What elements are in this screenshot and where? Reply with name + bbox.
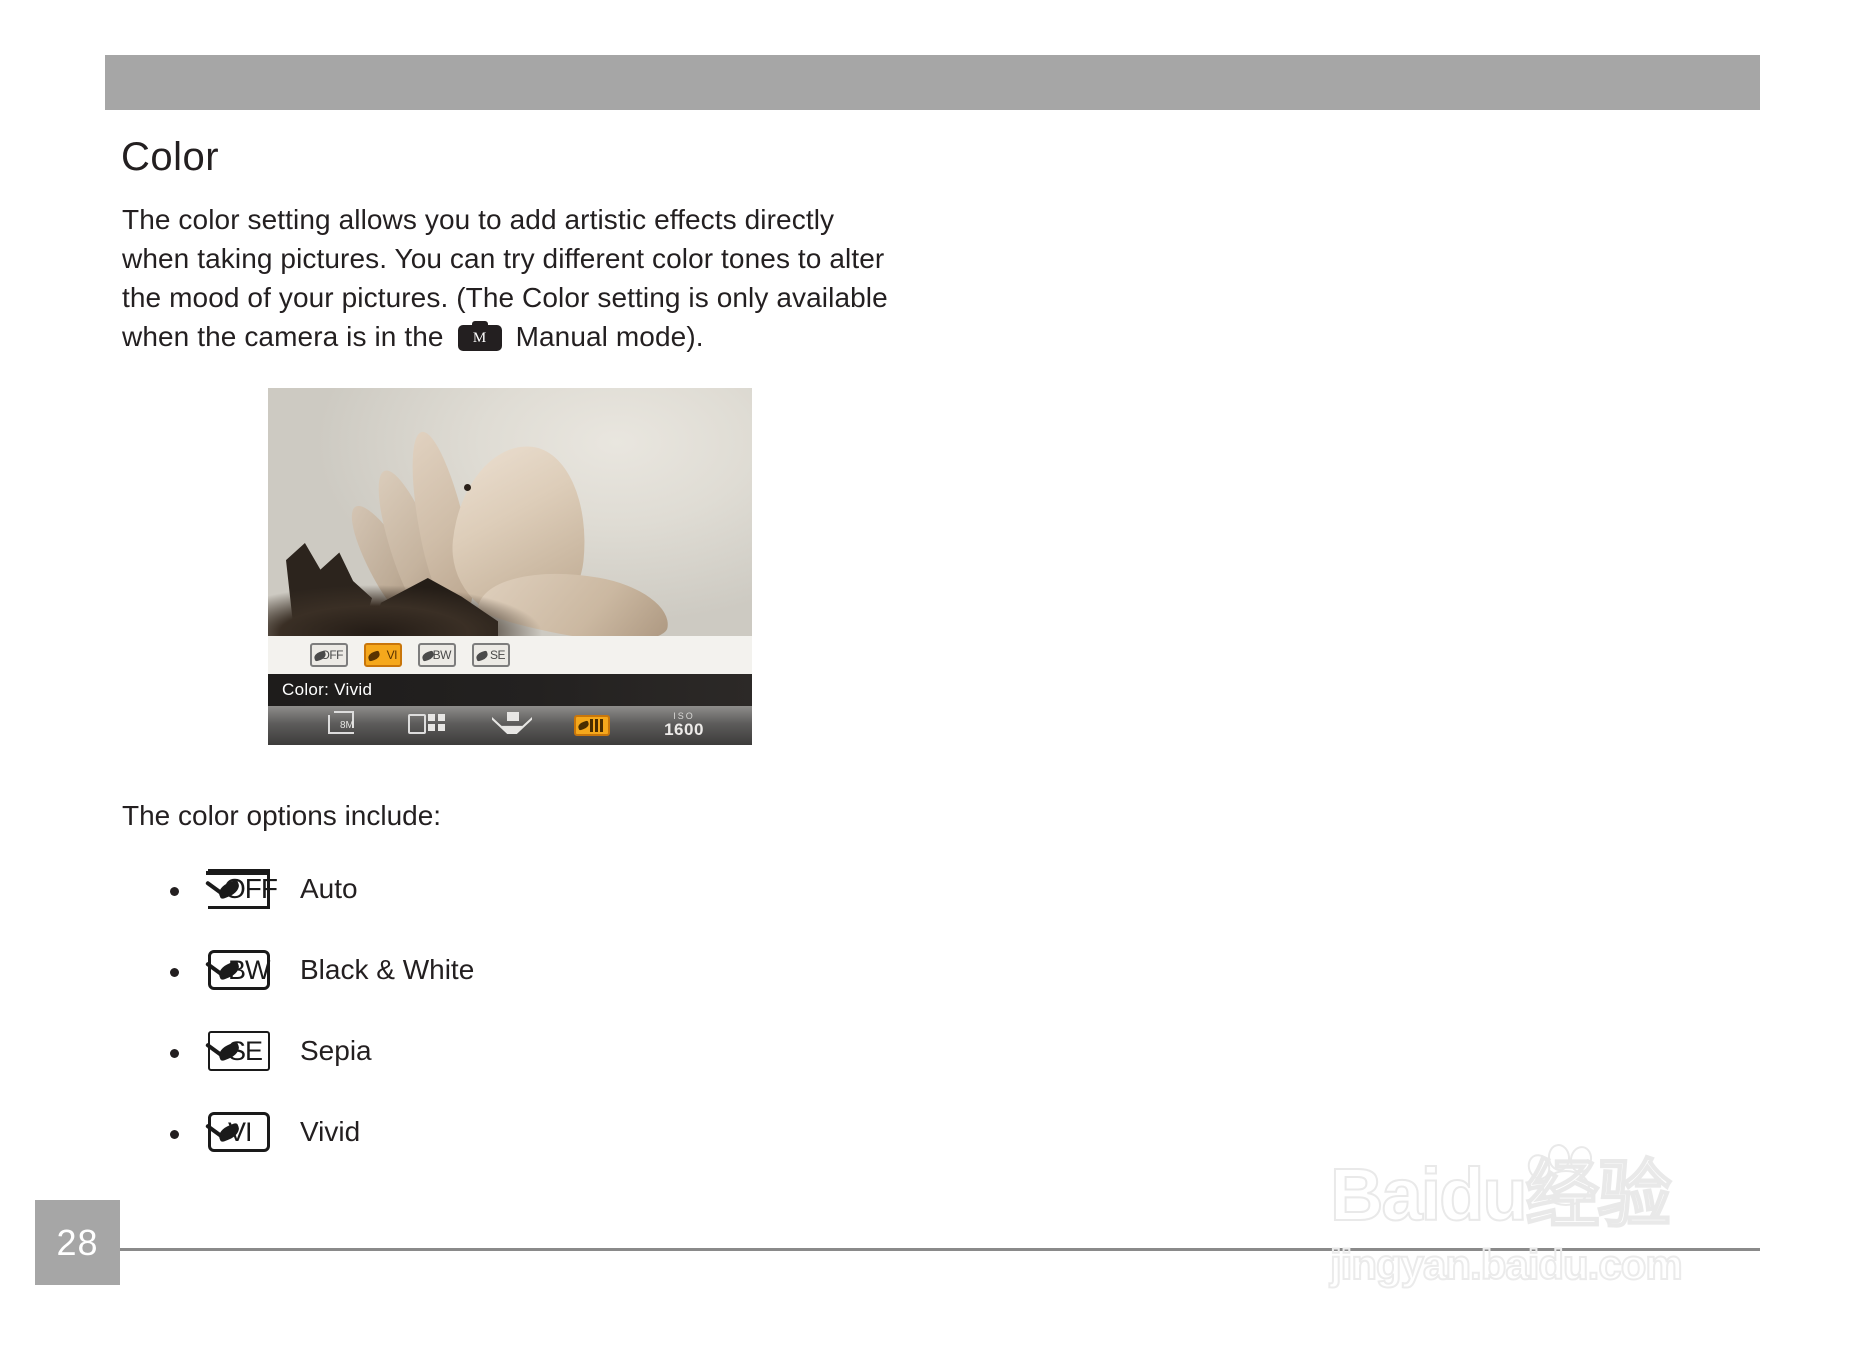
manual-mode-icon: M — [458, 321, 502, 351]
lcd-option-bw[interactable]: BW — [418, 643, 456, 667]
paragraph-line-4-text: when the camera is in the — [122, 321, 444, 352]
footer-rule — [120, 1248, 1760, 1251]
lcd-option-sepia-label: SE — [490, 648, 505, 662]
lcd-option-off[interactable]: OFF — [310, 643, 348, 667]
header-band — [105, 55, 1760, 110]
color-option-bw-icon: BW — [202, 950, 276, 994]
watermark-logo: Baidu经验 — [1330, 1158, 1670, 1232]
color-option-vivid-label: Vivid — [300, 1116, 360, 1148]
off-glyph-label: OFF — [224, 872, 264, 906]
paragraph-line-1: The color setting allows you to add arti… — [122, 200, 942, 239]
list-item: BW Black & White — [170, 946, 870, 1027]
lcd-option-bw-label: BW — [433, 648, 451, 662]
toolbar-color-icon[interactable] — [570, 711, 618, 739]
bullet-dot — [170, 1130, 179, 1139]
paragraph-line-4: when the camera is in theMManual mode). — [122, 317, 942, 356]
bullet-dot — [170, 1049, 179, 1058]
brush-icon — [367, 650, 381, 661]
sepia-glyph-label: SE — [228, 1034, 268, 1068]
baidu-watermark: Baidu经验 jingyan.baidu.com — [1330, 1158, 1800, 1318]
paragraph-line-2: when taking pictures. You can try differ… — [122, 239, 942, 278]
toolbar-iso-indicator[interactable]: ISO 1600 — [654, 711, 714, 739]
toolbar-resolution-label: 8M — [340, 720, 354, 731]
color-option-sepia-label: Sepia — [300, 1035, 372, 1067]
lcd-status-label: Color: Vivid — [268, 674, 752, 706]
watermark-logo-cn: 经验 — [1526, 1153, 1670, 1236]
quality-grid — [428, 714, 448, 734]
manual-mode-icon-letter: M — [458, 325, 502, 351]
color-option-sepia-icon: SE — [202, 1031, 276, 1075]
lcd-option-sepia[interactable]: SE — [472, 643, 510, 667]
page-number: 28 — [35, 1200, 120, 1285]
lcd-bottom-toolbar: 8M ISO 1600 — [268, 706, 752, 745]
color-option-vivid-icon: VI — [202, 1112, 276, 1156]
list-item: SE Sepia — [170, 1027, 870, 1108]
bullet-dot — [170, 968, 179, 977]
color-options-list: OFF Auto BW Black & White SE Sepia — [170, 865, 870, 1189]
color-icon-bars — [590, 719, 606, 732]
photo-vignette — [268, 556, 668, 636]
lcd-color-option-strip: OFF VI BW SE — [268, 636, 752, 674]
flower-spot — [464, 484, 471, 491]
bullet-dot — [170, 887, 179, 896]
vivid-glyph-label: VI — [228, 1115, 268, 1149]
intro-paragraph: The color setting allows you to add arti… — [122, 200, 942, 356]
toolbar-resolution-icon[interactable]: 8M — [324, 711, 372, 739]
list-item: OFF Auto — [170, 865, 870, 946]
lcd-option-vivid-label: VI — [387, 648, 397, 662]
page-number-box: 28 — [35, 1200, 120, 1285]
paw-icon — [1526, 1144, 1606, 1202]
list-item: VI Vivid — [170, 1108, 870, 1189]
color-option-auto-label: Auto — [300, 873, 358, 905]
paragraph-line-3: the mood of your pictures. (The Color se… — [122, 278, 942, 317]
metering-chip — [507, 712, 519, 721]
color-option-off-icon: OFF — [202, 869, 276, 913]
color-option-bw-label: Black & White — [300, 954, 474, 986]
toolbar-metering-icon[interactable] — [488, 711, 536, 739]
toolbar-quality-icon[interactable] — [406, 711, 454, 739]
lcd-option-vivid[interactable]: VI — [364, 643, 402, 667]
lcd-preview-photo — [268, 388, 752, 636]
options-lead-text: The color options include: — [122, 800, 441, 832]
camera-lcd-screenshot: OFF VI BW SE Color: Vivid 8M — [268, 388, 752, 745]
brush-icon — [475, 650, 489, 661]
quality-frame — [408, 714, 426, 734]
watermark-logo-text: Baidu — [1330, 1153, 1526, 1236]
paragraph-tail: Manual mode). — [516, 321, 704, 352]
bw-glyph-label: BW — [228, 953, 268, 987]
page-title: Color — [121, 137, 219, 177]
toolbar-iso-value: 1600 — [654, 721, 714, 739]
